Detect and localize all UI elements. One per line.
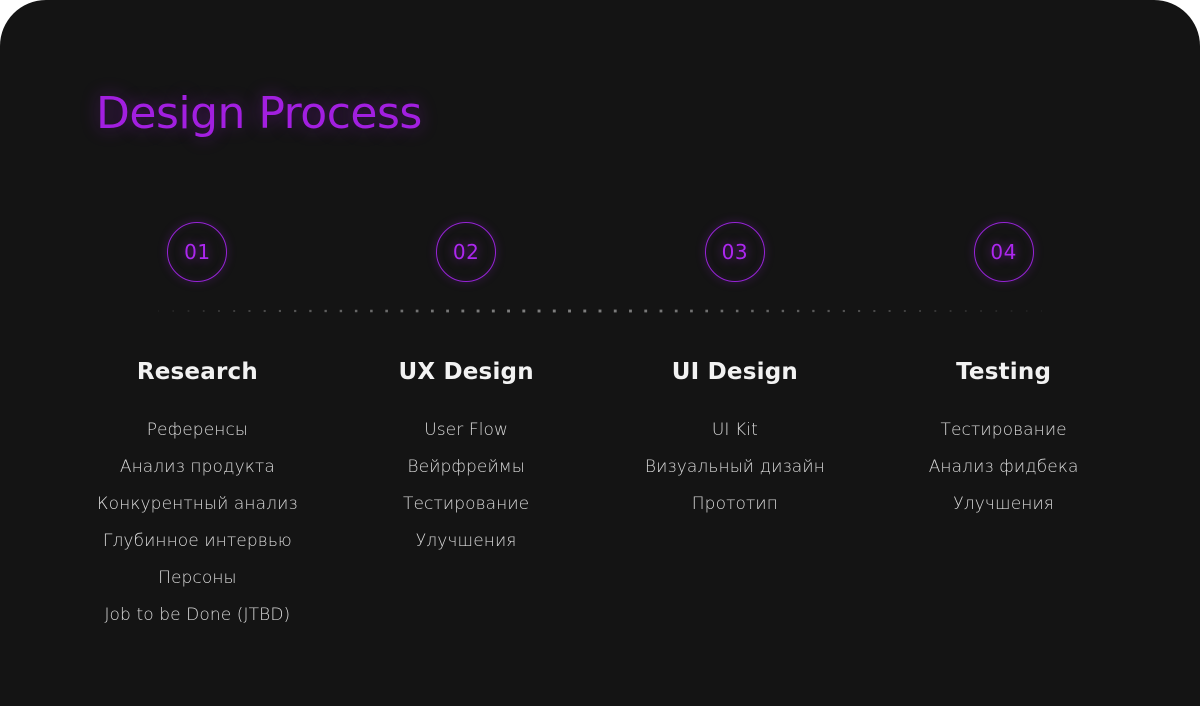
step-badge-03[interactable]: 03 <box>705 222 765 282</box>
list-item: Персоны <box>97 560 298 597</box>
list-item: Тестирование <box>403 486 529 523</box>
step-badge-02[interactable]: 02 <box>436 222 496 282</box>
step-title-research: Research <box>137 359 258 385</box>
list-item: Улучшения <box>929 486 1079 523</box>
process-steps: 01 Research Референсы Анализ продукта Ко… <box>63 222 1138 634</box>
process-step-03: 03 UI Design UI Kit Визуальный дизайн Пр… <box>601 222 870 634</box>
list-item: Job to be Done (JTBD) <box>97 597 298 634</box>
step-items-ui-design: UI Kit Визуальный дизайн Прототип <box>645 412 825 523</box>
list-item: Тестирование <box>929 412 1079 449</box>
step-title-ux-design: UX Design <box>398 359 533 385</box>
list-item: Глубинное интервью <box>97 523 298 560</box>
process-step-01: 01 Research Референсы Анализ продукта Ко… <box>63 222 332 634</box>
step-number-03: 03 <box>722 240 748 264</box>
list-item: User Flow <box>403 412 529 449</box>
step-badge-01[interactable]: 01 <box>167 222 227 282</box>
page-title: Design Process <box>96 88 422 139</box>
step-items-ux-design: User Flow Вейрфреймы Тестирование Улучше… <box>403 412 529 560</box>
list-item: Конкурентный анализ <box>97 486 298 523</box>
list-item: Визуальный дизайн <box>645 449 825 486</box>
list-item: UI Kit <box>645 412 825 449</box>
process-step-04: 04 Testing Тестирование Анализ фидбека У… <box>869 222 1138 634</box>
step-number-04: 04 <box>990 240 1016 264</box>
list-item: Анализ фидбека <box>929 449 1079 486</box>
list-item: Улучшения <box>403 523 529 560</box>
design-process-slide: Design Process 01 Research Референсы Ана… <box>0 0 1200 706</box>
step-badge-04[interactable]: 04 <box>974 222 1034 282</box>
process-step-02: 02 UX Design User Flow Вейрфреймы Тестир… <box>332 222 601 634</box>
step-items-research: Референсы Анализ продукта Конкурентный а… <box>97 412 298 634</box>
list-item: Прототип <box>645 486 825 523</box>
step-number-01: 01 <box>184 240 210 264</box>
step-title-testing: Testing <box>956 359 1051 385</box>
list-item: Анализ продукта <box>97 449 298 486</box>
step-items-testing: Тестирование Анализ фидбека Улучшения <box>929 412 1079 523</box>
step-title-ui-design: UI Design <box>672 359 798 385</box>
step-number-02: 02 <box>453 240 479 264</box>
list-item: Вейрфреймы <box>403 449 529 486</box>
list-item: Референсы <box>97 412 298 449</box>
